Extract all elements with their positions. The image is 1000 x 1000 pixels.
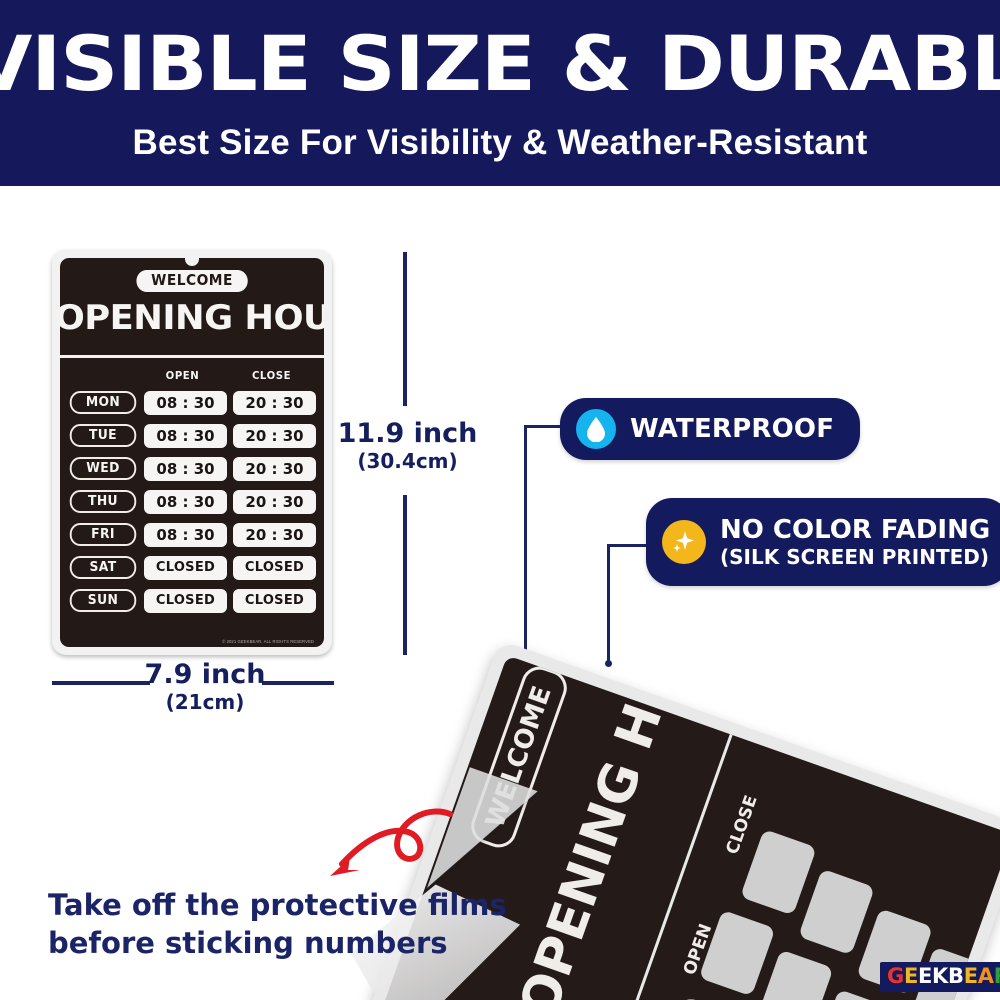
width-dimension-line-right [262, 681, 334, 685]
open-column-header: OPEN [142, 369, 224, 382]
instruction-note: Take off the protective films before sti… [48, 886, 508, 962]
height-dimension-line-bottom [403, 495, 407, 655]
brand-letter: E [904, 965, 918, 988]
width-value-cm: (21cm) [140, 690, 270, 714]
tilted-close-column-header: CLOSE [723, 793, 762, 857]
table-header-row: OPEN CLOSE [68, 364, 316, 386]
brand-letter: E [964, 965, 978, 988]
copyright-text: © 2021 GEEKBEAR, ALL RIGHTS RESERVED [222, 639, 314, 645]
close-value-pill: CLOSED [233, 556, 316, 580]
open-value-pill: 08 : 30 [144, 490, 227, 514]
table-row: FRI08 : 3020 : 30 [68, 518, 316, 551]
feature-badge-waterproof[interactable]: WATERPROOF [560, 398, 860, 460]
close-value-pill: CLOSED [233, 589, 316, 613]
close-value-pill: 20 : 30 [233, 424, 316, 448]
infographic-canvas: VISIBLE SIZE & DURABLE Best Size For Vis… [0, 0, 1000, 1000]
water-drop-icon [576, 409, 616, 449]
brand-letter: G [887, 965, 904, 988]
height-dimension-line-top [403, 252, 407, 406]
red-arrow-icon [318, 808, 458, 894]
open-value-pill: 08 : 30 [144, 523, 227, 547]
header-banner: VISIBLE SIZE & DURABLE Best Size For Vis… [0, 0, 1000, 186]
width-dimension-label: 7.9 inch (21cm) [140, 659, 270, 714]
height-dimension-label: 11.9 inch (30.4cm) [335, 418, 480, 473]
tilted-value-box [699, 910, 776, 997]
tilted-value-box [798, 869, 875, 956]
sign-face: WELCOME OPENING HOURS OPEN CLOSE MON08 :… [60, 258, 324, 647]
brand-letter: A [978, 965, 994, 988]
badge-label-line1: NO COLOR FADING [720, 516, 990, 545]
badge-label-waterproof: WATERPROOF [630, 414, 834, 444]
day-pill: FRI [70, 523, 137, 546]
tilted-value-box [740, 829, 817, 916]
brand-logo: GEEKBEAR [880, 962, 1000, 992]
brand-letter: R [994, 965, 1000, 988]
close-value-pill: 20 : 30 [233, 457, 316, 481]
open-value-pill: 08 : 30 [144, 457, 227, 481]
product-sign-front: WELCOME OPENING HOURS OPEN CLOSE MON08 :… [52, 250, 332, 655]
open-value-pill: CLOSED [144, 556, 227, 580]
width-value-inch: 7.9 inch [140, 659, 270, 690]
hours-table: OPEN CLOSE MON08 : 3020 : 30TUE08 : 3020… [60, 358, 324, 647]
table-row: SUNCLOSEDCLOSED [68, 584, 316, 617]
page-title: VISIBLE SIZE & DURABLE [0, 22, 1000, 106]
brand-letter: E [918, 965, 932, 988]
day-pill: TUE [70, 424, 137, 447]
day-pill: WED [70, 457, 137, 480]
day-pill: SAT [70, 556, 137, 579]
feature-badge-no-color-fading[interactable]: NO COLOR FADING (SILK SCREEN PRINTED) [646, 498, 1000, 586]
table-row: MON08 : 3020 : 30 [68, 386, 316, 419]
open-value-pill: CLOSED [144, 589, 227, 613]
welcome-badge: WELCOME [136, 270, 247, 292]
table-row: THU08 : 3020 : 30 [68, 485, 316, 518]
sign-heading: OPENING HOURS [60, 298, 324, 338]
brand-letter: B [948, 965, 964, 988]
sign-header-section: WELCOME OPENING HOURS [60, 258, 324, 358]
table-row: SATCLOSEDCLOSED [68, 551, 316, 584]
height-value-cm: (30.4cm) [335, 449, 480, 473]
instruction-note-line1: Take off the protective films [48, 886, 508, 924]
tilted-day-pill: MON [655, 994, 724, 1000]
sparkle-icon [662, 520, 706, 564]
width-dimension-line-left [52, 681, 150, 685]
day-pill: MON [70, 391, 137, 414]
close-value-pill: 20 : 30 [233, 523, 316, 547]
tilted-value-box [757, 949, 834, 1000]
table-row: TUE08 : 3020 : 30 [68, 419, 316, 452]
connector-fading-vertical [607, 544, 610, 664]
connector-fading-endpoint [605, 660, 612, 667]
badge-label-no-color-fading: NO COLOR FADING (SILK SCREEN PRINTED) [720, 516, 990, 569]
day-pill: SUN [70, 589, 137, 612]
open-value-pill: 08 : 30 [144, 424, 227, 448]
instruction-note-line2: before sticking numbers [48, 924, 508, 962]
close-column-header: CLOSE [231, 369, 313, 382]
open-value-pill: 08 : 30 [144, 391, 227, 415]
close-value-pill: 20 : 30 [233, 391, 316, 415]
height-value-inch: 11.9 inch [335, 418, 480, 449]
day-pill: THU [70, 490, 137, 513]
table-row: WED08 : 3020 : 30 [68, 452, 316, 485]
page-subtitle: Best Size For Visibility & Weather-Resis… [0, 122, 1000, 164]
badge-label-line2: (SILK SCREEN PRINTED) [720, 545, 990, 569]
brand-letter: K [932, 965, 948, 988]
close-value-pill: 20 : 30 [233, 490, 316, 514]
